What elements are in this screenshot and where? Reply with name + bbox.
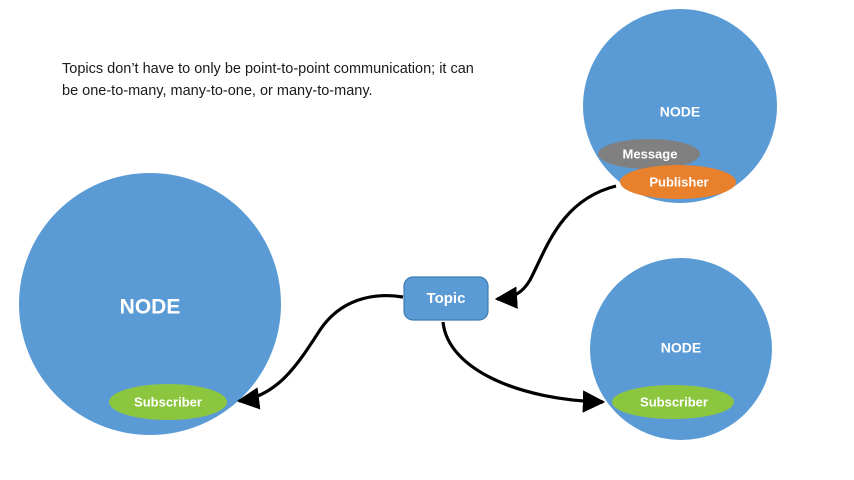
message-label: Message <box>623 146 678 161</box>
subscriber-label-left: Subscriber <box>134 394 202 409</box>
publisher-label: Publisher <box>649 174 708 189</box>
node-left[interactable]: NODE Subscriber <box>19 173 281 435</box>
node-top-right-label: NODE <box>660 104 700 120</box>
subscriber-label-bottom-right: Subscriber <box>640 394 708 409</box>
node-bottom-right[interactable]: NODE Subscriber <box>590 258 772 440</box>
topic-communication-diagram: NODE Subscriber NODE Message Publisher N… <box>0 0 854 480</box>
connector-topic-to-bottom-right-subscriber <box>443 322 603 402</box>
topic-box[interactable]: Topic <box>404 277 488 320</box>
diagram-canvas: Topics don’t have to only be point-to-po… <box>0 0 854 480</box>
node-bottom-right-label: NODE <box>661 340 701 356</box>
node-left-label: NODE <box>120 296 181 319</box>
connector-publisher-to-topic <box>497 186 616 299</box>
topic-label: Topic <box>427 290 466 307</box>
node-top-right[interactable]: NODE Message Publisher <box>583 9 777 203</box>
